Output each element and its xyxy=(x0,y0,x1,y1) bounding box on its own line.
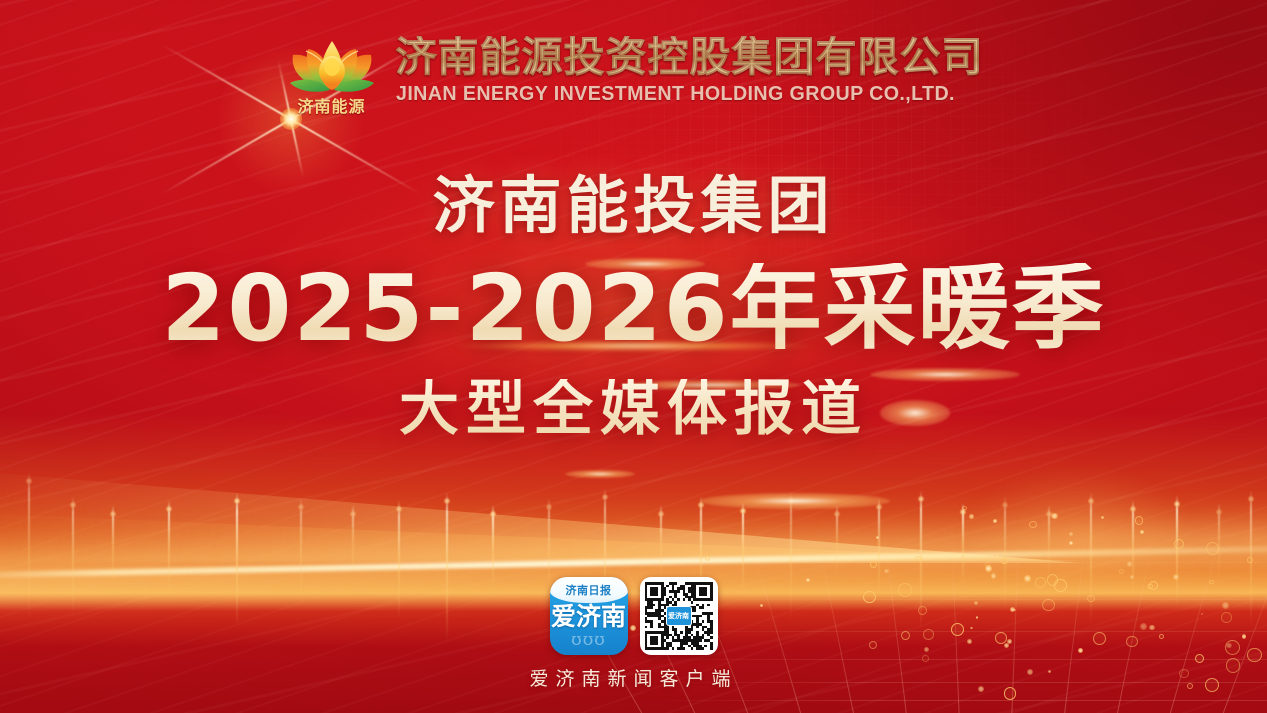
title-line-3: 大型全媒体报道 xyxy=(0,379,1267,439)
golden-particle xyxy=(1127,561,1132,566)
footer-caption: 爱济南新闻客户端 xyxy=(529,664,737,691)
light-comet xyxy=(112,505,114,585)
qr-center-logo: 爱济南 xyxy=(666,606,692,626)
golden-particle xyxy=(985,565,992,572)
mini-flare-glow xyxy=(700,493,890,509)
lotus-logo-icon: 济南能源 xyxy=(284,27,380,115)
footer-block: 济南日报 爱济南 ʊʊʊ 爱济南 爱济南新闻客户端 xyxy=(0,577,1267,691)
golden-particle xyxy=(1029,521,1036,528)
company-name-block: 济南能源投资控股集团有限公司 JINAN ENERGY INVESTMENT H… xyxy=(396,36,984,106)
light-comet xyxy=(660,505,662,580)
qr-code-icon[interactable]: 爱济南 xyxy=(640,577,718,655)
title-line-1: 济南能投集团 xyxy=(0,175,1267,237)
footer-logo-row: 济南日报 爱济南 ʊʊʊ 爱济南 xyxy=(550,577,718,655)
golden-particle xyxy=(1119,569,1124,574)
company-header: 济南能源 济南能源投资控股集团有限公司 JINAN ENERGY INVESTM… xyxy=(0,26,1267,116)
golden-particle xyxy=(705,556,710,561)
app-icon-cap: 济南日报 xyxy=(550,577,628,603)
light-comet xyxy=(352,505,354,575)
app-swoosh-ornament: ʊʊʊ xyxy=(550,630,628,650)
lens-flare-star-icon xyxy=(290,118,292,120)
aijinan-app-icon[interactable]: 济南日报 爱济南 ʊʊʊ xyxy=(550,577,628,655)
golden-particle xyxy=(1135,516,1143,524)
golden-particle xyxy=(993,519,997,523)
app-brand-label: 爱济南 xyxy=(550,604,628,630)
poster-canvas: 济南能源 济南能源投资控股集团有限公司 JINAN ENERGY INVESTM… xyxy=(0,0,1267,713)
golden-particle xyxy=(1051,513,1057,519)
logo-badge-label: 济南能源 xyxy=(284,99,380,115)
grid-line-horizontal xyxy=(647,700,1267,701)
golden-particle xyxy=(876,536,879,539)
company-name-cn: 济南能源投资控股集团有限公司 xyxy=(396,36,984,79)
qr-center-logo-label: 爱济南 xyxy=(668,613,689,620)
golden-particle xyxy=(969,514,973,518)
app-publisher-label: 济南日报 xyxy=(550,582,628,598)
golden-particle xyxy=(962,506,966,510)
qr-module xyxy=(710,647,713,650)
title-block: 济南能投集团 2025-2026年采暖季 大型全媒体报道 xyxy=(0,175,1267,439)
light-comet xyxy=(836,505,838,575)
mini-flare-glow xyxy=(565,470,635,478)
golden-particle xyxy=(1069,532,1073,536)
golden-particle xyxy=(1206,542,1219,555)
golden-particle xyxy=(1001,558,1008,565)
company-name-en: JINAN ENERGY INVESTMENT HOLDING GROUP CO… xyxy=(396,82,960,106)
golden-particle xyxy=(1101,516,1104,519)
title-under-glow xyxy=(454,341,814,351)
golden-particle xyxy=(1140,530,1144,534)
